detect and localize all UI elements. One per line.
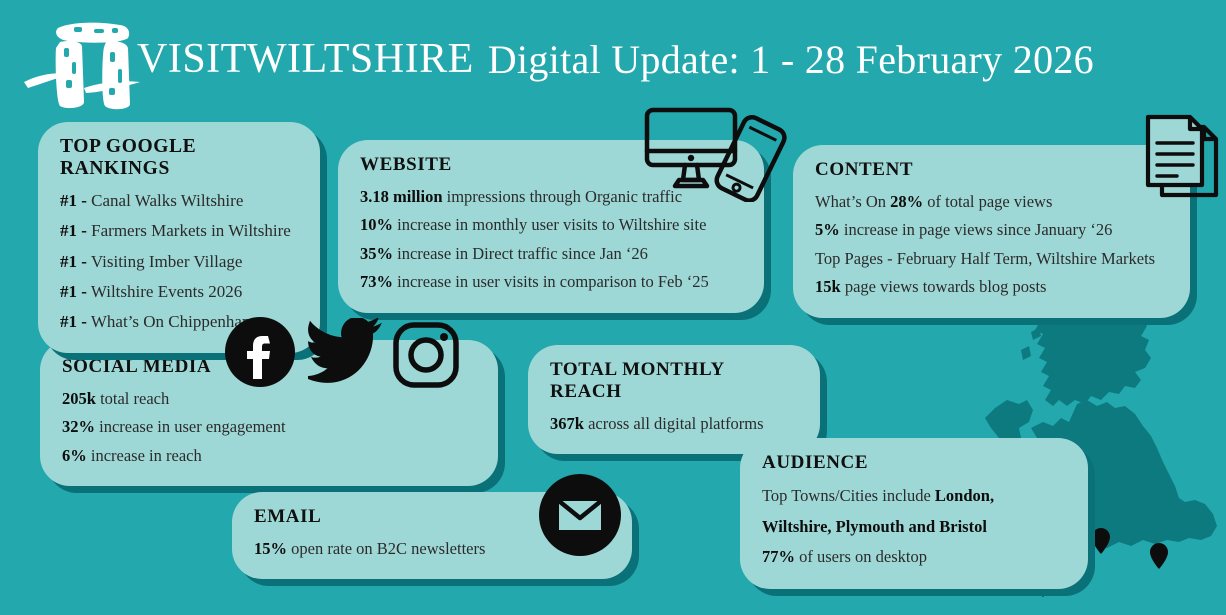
social-stat: 32% increase in user engagement [62,413,476,441]
stat-value: 15k [815,277,841,296]
website-stat: 10% increase in monthly user visits to W… [360,211,742,239]
report-period-subtitle: Digital Update: 1 - 28 February 2026 [488,36,1094,83]
ranking-item: #1 - Wiltshire Events 2026 [60,277,298,307]
card-title: TOTAL MONTHLY REACH [550,359,798,403]
ranking-item: #1 - Farmers Markets in Wiltshire [60,216,298,246]
page-title: VISITWILTSHIRE Digital Update: 1 - 28 Fe… [137,28,1094,90]
email-envelope-icon[interactable] [538,473,622,557]
ranking-position: #1 - [60,282,87,301]
twitter-icon[interactable] [308,318,384,384]
stat-label: increase in monthly user visits to Wilts… [397,215,706,234]
stat-value: 73% [360,272,393,291]
ranking-label: Farmers Markets in Wiltshire [91,221,291,240]
stat-label: increase in page views since January ‘26 [844,220,1112,239]
stat-label: Top Pages - February Half Term, Wiltshir… [815,249,1155,268]
facebook-icon[interactable] [224,316,296,388]
ranking-position: #1 - [60,252,87,271]
stat-value: 205k [62,389,96,408]
ranking-label: Wiltshire Events 2026 [91,282,242,301]
instagram-icon[interactable] [392,320,460,390]
stat-value: 77% [762,547,795,566]
stat-value: 367k [550,414,584,433]
stat-label: increase in reach [91,446,202,465]
ranking-position: #1 - [60,221,87,240]
stat-prefix: What’s On [815,192,886,211]
audience-towns: Top Towns/Cities include London, Wiltshi… [762,481,1066,542]
stat-value: 28% [890,192,923,211]
content-stat: What’s On 28% of total page views [815,188,1168,216]
card-title: TOP GOOGLE RANKINGS [60,136,298,180]
ranking-label: Canal Walks Wiltshire [91,191,243,210]
card-content: CONTENT What’s On 28% of total page view… [793,145,1190,318]
card-title: CONTENT [815,159,1168,181]
website-stat: 35% increase in Direct traffic since Jan… [360,240,742,268]
brand-name: VISITWILTSHIRE [137,35,474,83]
content-stat: 5% increase in page views since January … [815,216,1168,244]
page-header: VISITWILTSHIRE Digital Update: 1 - 28 Fe… [0,0,1226,110]
stat-label: increase in user visits in comparison to… [397,272,709,291]
document-pages-icon [1144,113,1220,206]
monitor-and-phone-icon [643,106,789,202]
stat-label: page views towards blog posts [845,277,1047,296]
stat-value: 32% [62,417,95,436]
stat-label: across all digital platforms [588,414,764,433]
content-stat: Top Pages - February Half Term, Wiltshir… [815,245,1168,273]
ranking-position: #1 - [60,191,87,210]
social-stat: 6% increase in reach [62,442,476,470]
stat-value: 6% [62,446,87,465]
stat-value: 5% [815,220,840,239]
ranking-item: #1 - Canal Walks Wiltshire [60,186,298,216]
website-stat: 73% increase in user visits in compariso… [360,268,742,296]
stat-label: of users on desktop [799,547,927,566]
ranking-position: #1 - [60,312,87,331]
stat-label: total reach [100,389,169,408]
ranking-label: Visiting Imber Village [91,252,243,271]
stat-label: open rate on B2C newsletters [291,539,485,558]
card-title: AUDIENCE [762,452,1066,474]
card-audience: AUDIENCE Top Towns/Cities include London… [740,438,1088,589]
stat-value: 35% [360,244,393,263]
reach-stat: 367k across all digital platforms [550,410,798,438]
content-stat: 15k page views towards blog posts [815,273,1168,301]
stat-label: increase in user engagement [99,417,285,436]
audience-towns-prefix: Top Towns/Cities include [762,486,931,505]
infographic-canvas: VISITWILTSHIRE Digital Update: 1 - 28 Fe… [0,0,1226,615]
stat-value: 15% [254,539,287,558]
stat-value: 3.18 million [360,187,443,206]
stat-value: 10% [360,215,393,234]
stat-label: increase in Direct traffic since Jan ‘26 [397,244,648,263]
ranking-item: #1 - Visiting Imber Village [60,247,298,277]
audience-stat: 77% of users on desktop [762,542,1066,573]
stat-label: of total page views [927,192,1052,211]
